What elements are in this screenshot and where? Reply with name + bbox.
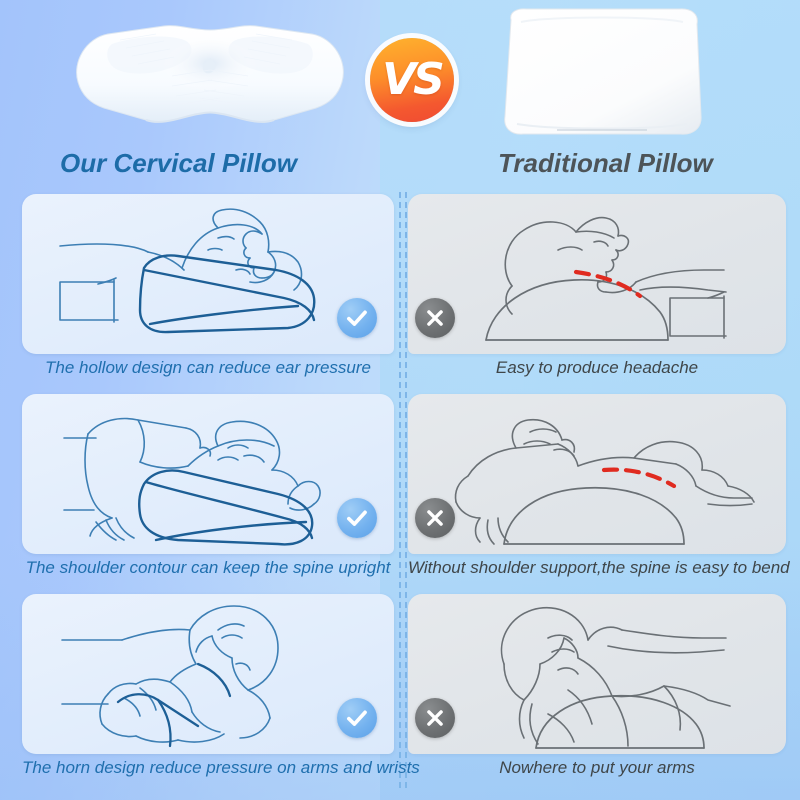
comparison-row-arm-support: The horn design reduce pressure on arms … [0, 590, 800, 790]
cross-badge [415, 698, 455, 738]
panel-left-arms-in-horn [22, 594, 394, 754]
panel-right-arms-unsupported [408, 594, 786, 754]
cross-icon [422, 305, 448, 331]
cross-badge [415, 298, 455, 338]
row-divider [398, 390, 408, 590]
check-badge [337, 498, 377, 538]
traditional-pillow-photo [487, 2, 717, 144]
check-badge [337, 298, 377, 338]
comparison-rows: The hollow design can reduce ear pressur… [0, 190, 800, 790]
vs-label: VS [382, 58, 442, 102]
cervical-pillow-photo [60, 4, 360, 144]
caption-right: Nowhere to put your arms [408, 758, 786, 778]
left-column-title: Our Cervical Pillow [60, 148, 297, 179]
panel-right-back-sleeper-flat [408, 194, 786, 354]
check-badge [337, 698, 377, 738]
check-icon [344, 505, 370, 531]
cross-icon [422, 705, 448, 731]
caption-left: The horn design reduce pressure on arms … [22, 758, 394, 778]
cross-icon [422, 505, 448, 531]
check-icon [344, 305, 370, 331]
header-hero: VS Our Cervical Pillow Traditional Pillo… [0, 0, 800, 186]
comparison-row-ear-pressure: The hollow design can reduce ear pressur… [0, 190, 800, 390]
right-column-title: Traditional Pillow [498, 148, 713, 179]
caption-left: The hollow design can reduce ear pressur… [22, 358, 394, 378]
check-icon [344, 705, 370, 731]
vs-badge: VS [370, 38, 454, 122]
cross-badge [415, 498, 455, 538]
spine-bend-line [604, 470, 674, 486]
caption-left: The shoulder contour can keep the spine … [22, 558, 394, 578]
panel-right-side-sleeper-bent [408, 394, 786, 554]
caption-right: Easy to produce headache [408, 358, 786, 378]
comparison-row-spine-alignment: The shoulder contour can keep the spine … [0, 390, 800, 590]
caption-right: Without shoulder support,the spine is ea… [408, 558, 786, 578]
row-divider [398, 190, 408, 390]
panel-left-side-sleeper-contour [22, 394, 394, 554]
panel-left-back-sleeper-contour [22, 194, 394, 354]
